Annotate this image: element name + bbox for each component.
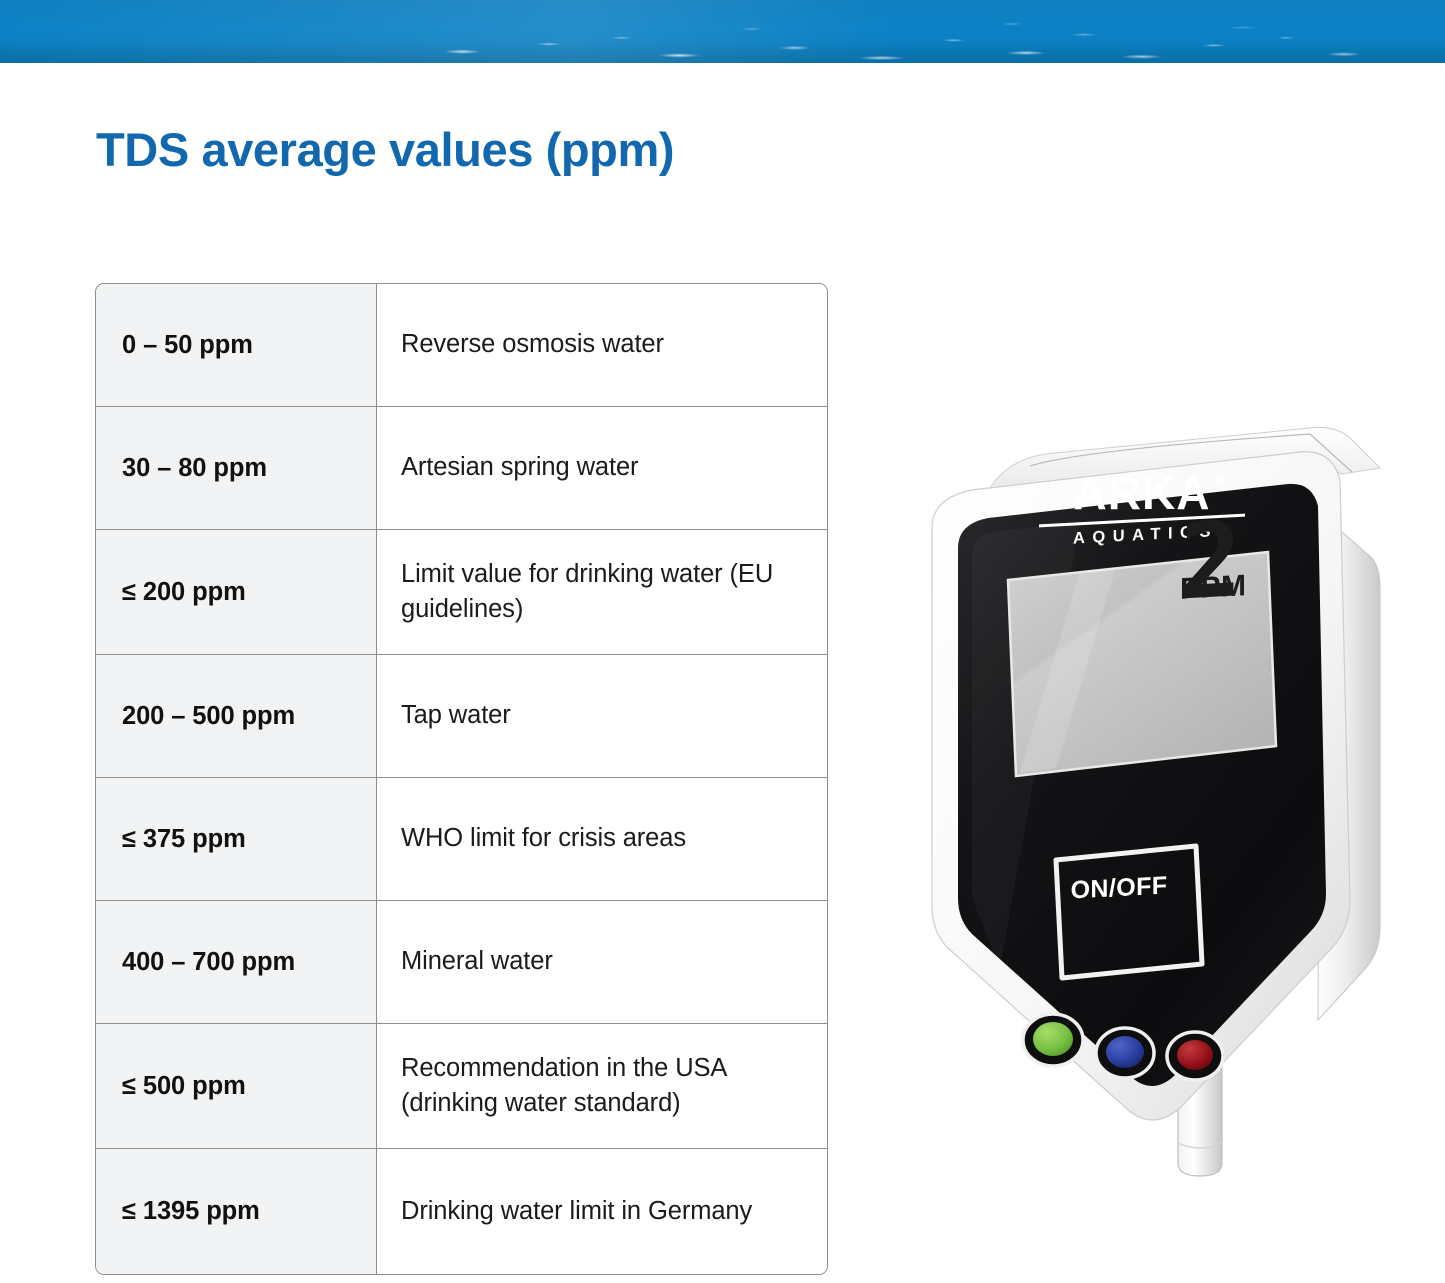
tds-description-cell: Mineral water	[377, 901, 827, 1023]
tds-range-cell: 30 – 80 ppm	[96, 407, 377, 529]
tds-range-cell: ≤ 375 ppm	[96, 778, 377, 900]
tds-range-cell: ≤ 200 ppm	[96, 530, 377, 654]
tds-description-cell: Reverse osmosis water	[377, 284, 827, 406]
led-red	[1167, 1032, 1223, 1080]
table-row: ≤ 500 ppm Recommendation in the USA (dri…	[96, 1024, 827, 1149]
tds-info-graphic: TDS average values (ppm) 0 – 50 ppm Reve…	[0, 0, 1445, 1283]
tds-range-cell: ≤ 500 ppm	[96, 1024, 377, 1148]
table-row: ≤ 1395 ppm Drinking water limit in Germa…	[96, 1149, 827, 1274]
tds-description-cell: Tap water	[377, 655, 827, 777]
tds-range-cell: 0 – 50 ppm	[96, 284, 377, 406]
tds-meter-device: ARKA ® AQUATICS 2 PPM ON/OFF	[880, 408, 1400, 1183]
table-row: 30 – 80 ppm Artesian spring water	[96, 407, 827, 530]
tds-description-cell: Limit value for drinking water (EU guide…	[377, 530, 827, 654]
table-row: 400 – 700 ppm Mineral water	[96, 901, 827, 1024]
led-blue	[1096, 1028, 1154, 1078]
tds-description-cell: Drinking water limit in Germany	[377, 1149, 827, 1274]
page-title: TDS average values (ppm)	[96, 122, 674, 177]
tds-description-cell: Recommendation in the USA (drinking wate…	[377, 1024, 827, 1148]
table-row: ≤ 375 ppm WHO limit for crisis areas	[96, 778, 827, 901]
tds-description-cell: WHO limit for crisis areas	[377, 778, 827, 900]
tds-average-values-table: 0 – 50 ppm Reverse osmosis water 30 – 80…	[95, 283, 828, 1275]
tds-range-cell: 200 – 500 ppm	[96, 655, 377, 777]
tds-range-cell: 400 – 700 ppm	[96, 901, 377, 1023]
lcd-display	[1008, 552, 1276, 776]
water-surface-banner	[0, 0, 1445, 63]
device-illustration	[880, 408, 1400, 1183]
led-green	[1023, 1014, 1083, 1066]
tds-range-cell: ≤ 1395 ppm	[96, 1149, 377, 1274]
water-sheen	[0, 0, 1445, 63]
table-row: 200 – 500 ppm Tap water	[96, 655, 827, 778]
tds-description-cell: Artesian spring water	[377, 407, 827, 529]
table-row: 0 – 50 ppm Reverse osmosis water	[96, 284, 827, 407]
table-row: ≤ 200 ppm Limit value for drinking water…	[96, 530, 827, 655]
